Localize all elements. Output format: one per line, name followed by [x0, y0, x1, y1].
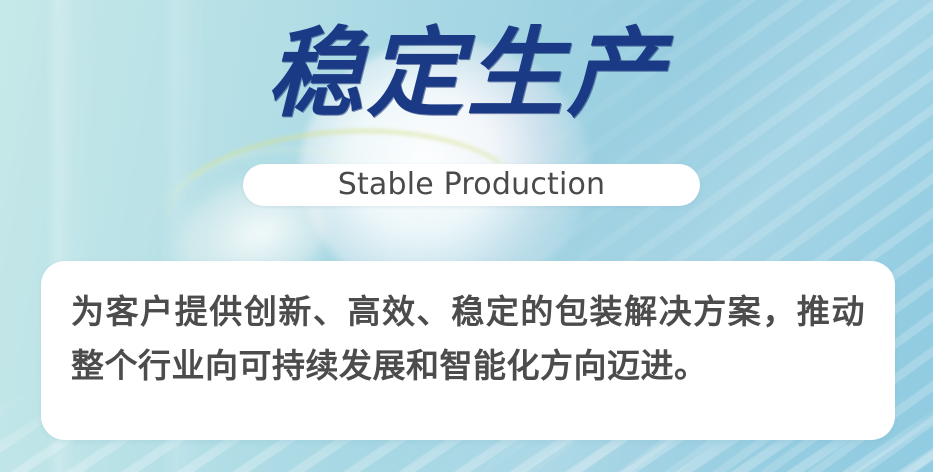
- description-card: 为客户提供创新、高效、稳定的包装解决方案，推动整个行业向可持续发展和智能化方向迈…: [41, 261, 895, 440]
- banner-content: 稳定生产 Stable Production 为客户提供创新、高效、稳定的包装解…: [0, 0, 933, 472]
- stable-production-banner: 稳定生产 Stable Production 为客户提供创新、高效、稳定的包装解…: [0, 0, 933, 472]
- subtitle-text: Stable Production: [338, 168, 606, 202]
- description-text: 为客户提供创新、高效、稳定的包装解决方案，推动整个行业向可持续发展和智能化方向迈…: [71, 285, 865, 393]
- page-title: 稳定生产: [0, 16, 933, 132]
- subtitle-pill: Stable Production: [243, 164, 700, 206]
